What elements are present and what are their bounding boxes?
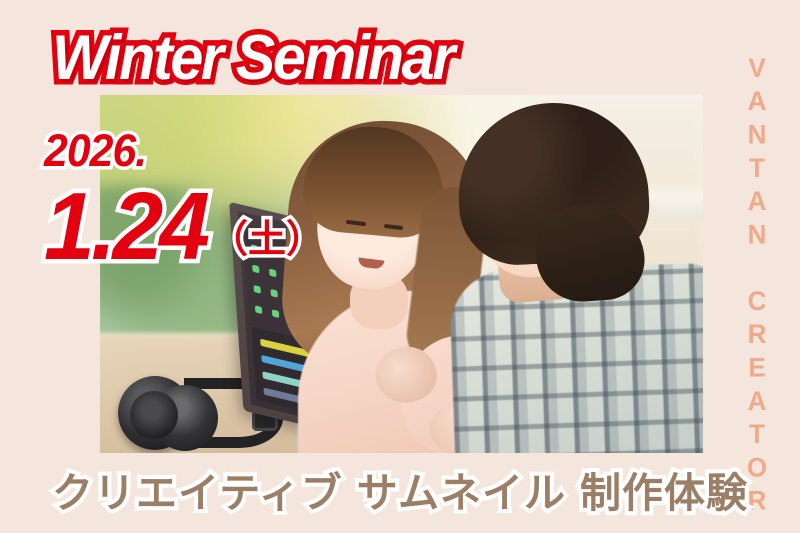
poster-title: Winter Seminar (52, 22, 453, 94)
event-weekday: （土） (210, 220, 324, 258)
event-year: 2026. (44, 128, 206, 173)
subtitle-part-2: サムネイル (357, 469, 566, 517)
subtitle-part-3: 制作体験 (580, 469, 748, 517)
poster-subtitle: クリエイティブサムネイル制作体験 (0, 459, 800, 519)
seminar-poster: Winter Seminar 2026. 1.24 （土） VANTAN CRE… (0, 0, 800, 533)
event-date: 2026. 1.24 （土） (44, 128, 215, 275)
photo-headphones-earpad (130, 391, 178, 439)
subtitle-part-1: クリエイティブ (52, 469, 343, 517)
event-day: 1.24 (44, 179, 206, 275)
